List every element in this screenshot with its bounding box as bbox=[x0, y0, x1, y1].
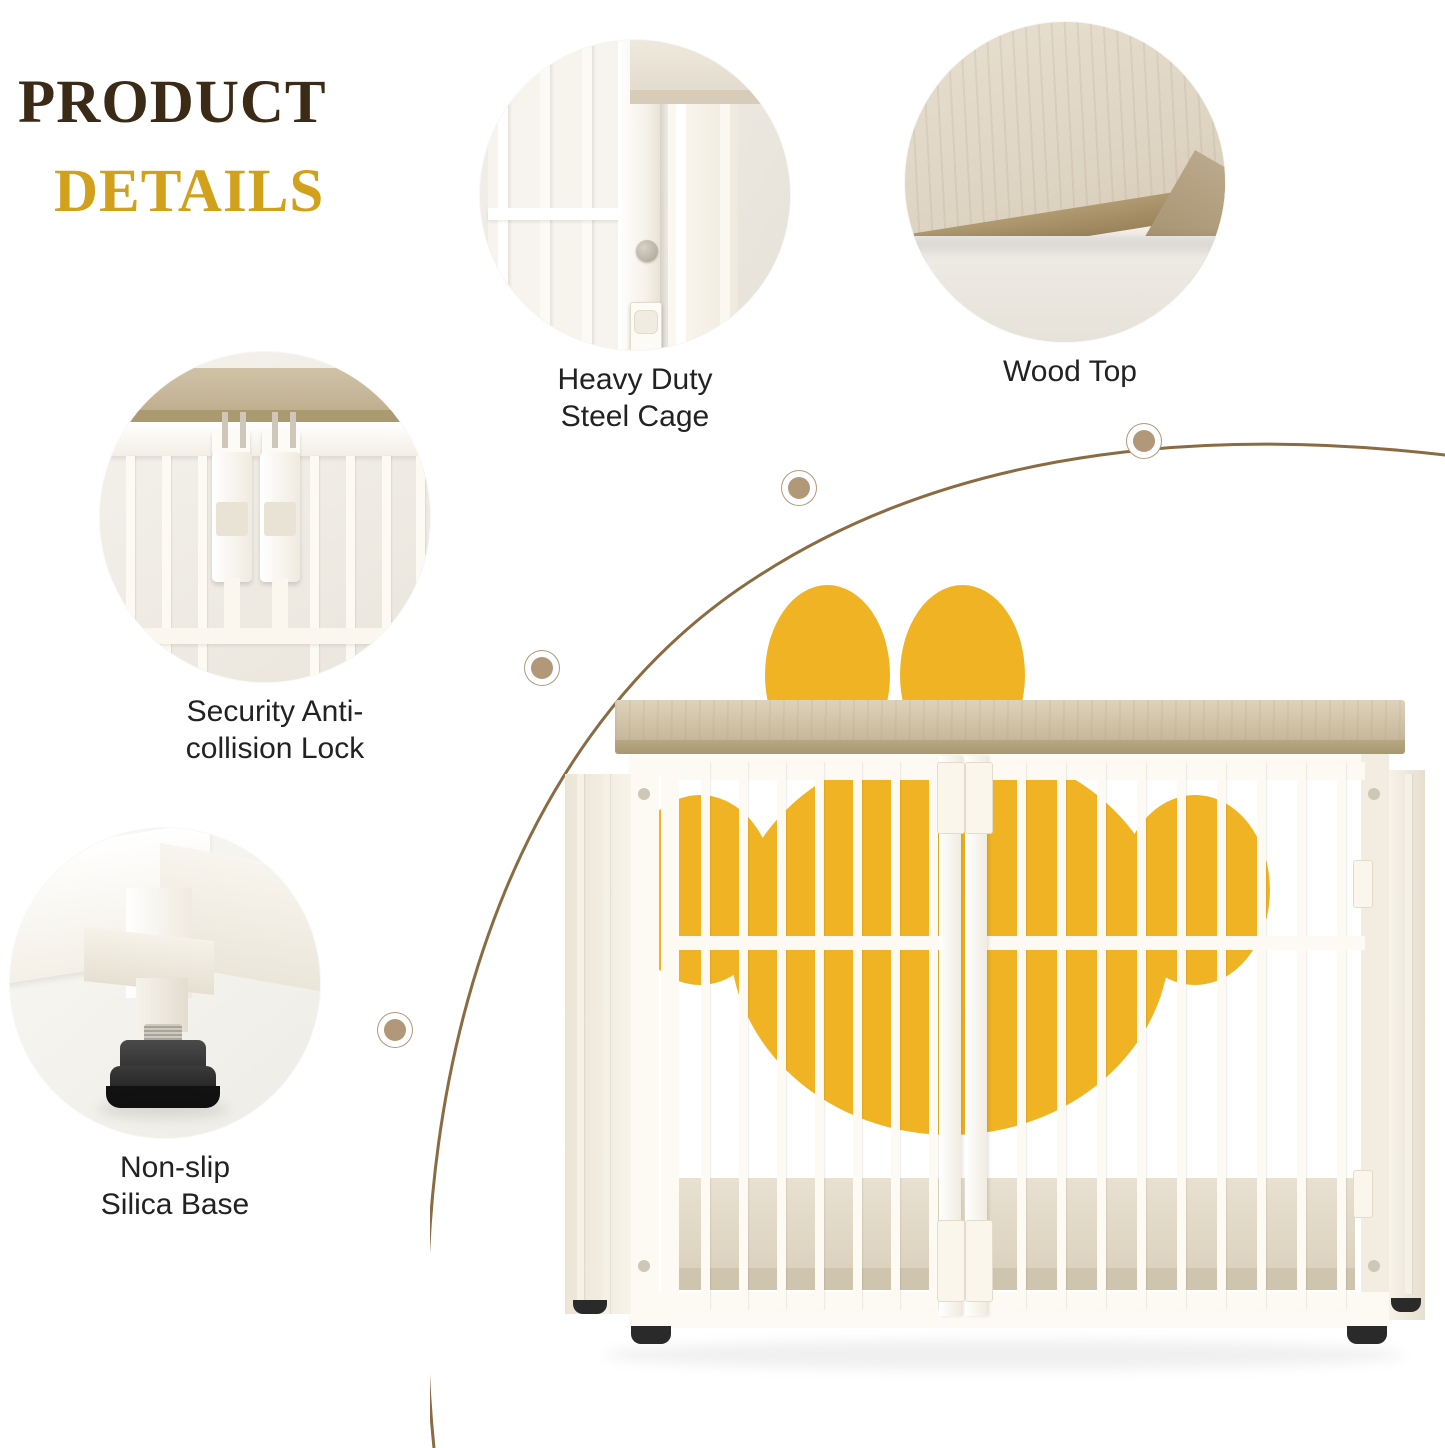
door-bar bbox=[1177, 762, 1186, 1310]
caption-line-2: collision Lock bbox=[100, 731, 450, 768]
arc-dot-1 bbox=[378, 1013, 412, 1047]
crate-foot-back-left bbox=[573, 1300, 607, 1314]
door-latch-bottom-left[interactable] bbox=[937, 1220, 965, 1302]
page-title: PRODUCT DETAILS bbox=[18, 72, 448, 222]
page-title-line2: DETAILS bbox=[54, 161, 448, 222]
door-bar bbox=[815, 762, 824, 1310]
door-latch-top-right[interactable] bbox=[965, 762, 993, 834]
callout-non-slip-silica-base: Non-slip Silica Base bbox=[10, 828, 340, 1223]
door-latch-bottom-right[interactable] bbox=[965, 1220, 993, 1302]
door-bar bbox=[853, 762, 862, 1310]
callout-image-wood-top bbox=[905, 22, 1225, 342]
crate-foot-back-right bbox=[1391, 1298, 1421, 1312]
callout-image-silica-base bbox=[10, 828, 320, 1138]
screw bbox=[1368, 1260, 1380, 1272]
page-title-line1: PRODUCT bbox=[18, 72, 448, 133]
door-right-rail-top bbox=[973, 762, 1365, 780]
screw bbox=[1368, 788, 1380, 800]
door-bar bbox=[739, 762, 748, 1310]
door-bar bbox=[891, 762, 900, 1310]
crate-frame-left-post bbox=[629, 754, 659, 1314]
callout-image-steel-cage bbox=[480, 40, 790, 350]
crate-side-panel bbox=[565, 774, 631, 1314]
door-right-rail-bottom bbox=[973, 1292, 1365, 1310]
caption-line-1: Heavy Duty bbox=[470, 362, 800, 399]
crate-foot-front-right bbox=[1347, 1326, 1387, 1344]
side-bar bbox=[577, 774, 584, 1314]
callout-caption-wood-top: Wood Top bbox=[905, 354, 1235, 391]
door-bar bbox=[701, 762, 710, 1310]
caption-line-1: Non-slip bbox=[10, 1150, 340, 1187]
screw bbox=[638, 788, 650, 800]
door-bar bbox=[1137, 762, 1146, 1310]
caption-line-1: Wood Top bbox=[905, 354, 1235, 391]
crate-foot-front-left bbox=[631, 1326, 671, 1344]
door-left-mid-rail bbox=[661, 936, 961, 950]
door-bar bbox=[1337, 762, 1346, 1310]
door-right-mid-rail bbox=[973, 936, 1365, 950]
door-bar bbox=[1097, 762, 1106, 1310]
callout-wood-top: Wood Top bbox=[905, 22, 1235, 391]
product-details-infographic: PRODUCT DETAILS bbox=[0, 0, 1445, 1448]
callout-caption-silica-base: Non-slip Silica Base bbox=[10, 1150, 340, 1223]
arc-dot-4 bbox=[1127, 424, 1161, 458]
crate-frame-right-post bbox=[1361, 754, 1389, 1314]
callout-caption-lock: Security Anti- collision Lock bbox=[100, 694, 450, 767]
back-bar bbox=[1405, 774, 1412, 1294]
door-bar bbox=[1057, 762, 1066, 1310]
caption-line-2: Silica Base bbox=[10, 1187, 340, 1224]
product-photo bbox=[430, 415, 1445, 1448]
arc-dot-3 bbox=[782, 471, 816, 505]
side-latch-bottom[interactable] bbox=[1353, 1170, 1373, 1218]
door-bar bbox=[1297, 762, 1306, 1310]
side-bar bbox=[603, 774, 610, 1314]
callout-image-lock bbox=[100, 352, 430, 682]
door-bar bbox=[1257, 762, 1266, 1310]
callout-heavy-duty-steel-cage: Heavy Duty Steel Cage bbox=[470, 40, 800, 435]
arc-dot-2 bbox=[525, 651, 559, 685]
callout-security-anti-collision-lock: Security Anti- collision Lock bbox=[100, 352, 450, 767]
screw bbox=[638, 1260, 650, 1272]
door-bar bbox=[1217, 762, 1226, 1310]
crate-wood-top-edge bbox=[615, 740, 1405, 754]
caption-line-1: Security Anti- bbox=[100, 694, 450, 731]
side-latch-top[interactable] bbox=[1353, 860, 1373, 908]
dog-crate-furniture bbox=[525, 700, 1430, 1380]
door-bar bbox=[1017, 762, 1026, 1310]
door-left-stile bbox=[661, 762, 679, 1310]
door-latch-top-left[interactable] bbox=[937, 762, 965, 834]
door-bar bbox=[777, 762, 786, 1310]
